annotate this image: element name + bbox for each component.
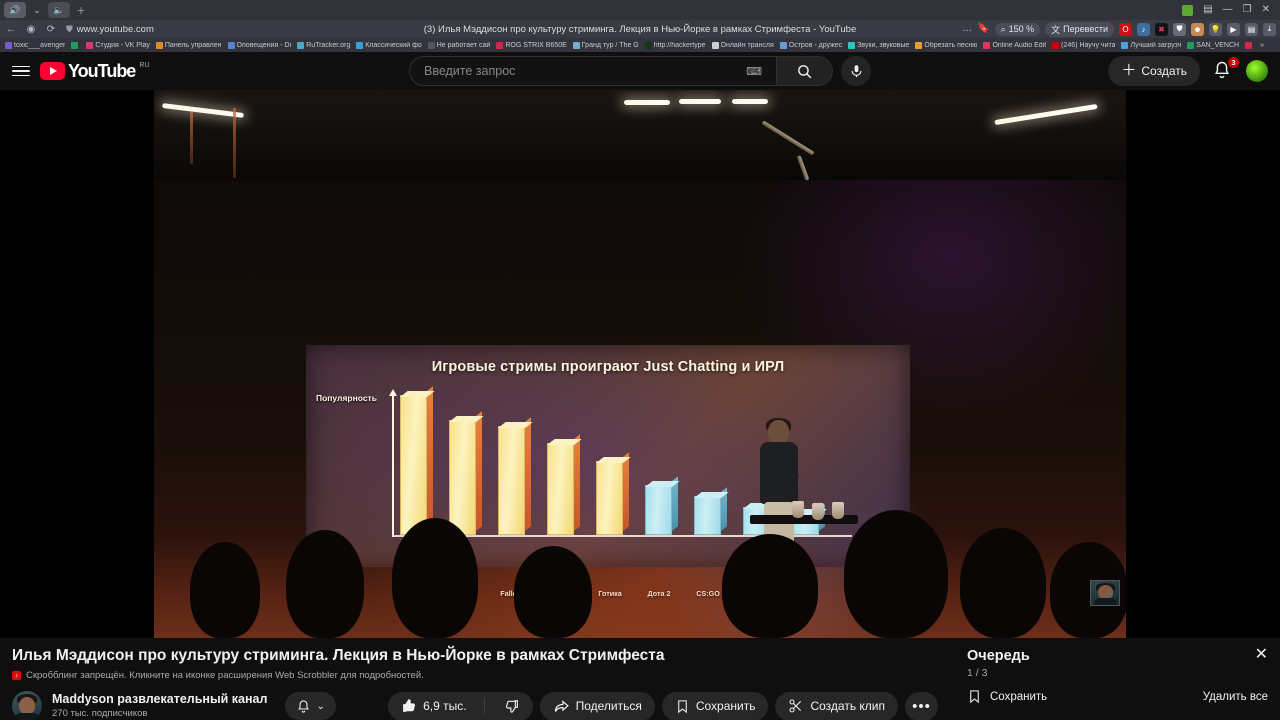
tab-list-dropdown-button[interactable]: ⌄ — [28, 2, 46, 18]
window-controls: ▤ — ❐ ✕ — [1182, 5, 1276, 16]
translate-button[interactable]: 文 Перевести — [1045, 22, 1114, 37]
bookmark-item[interactable]: Остров - дружес — [778, 42, 844, 49]
browser-tab-2[interactable]: 🔈 — [48, 2, 70, 18]
save-button[interactable]: Сохранить — [662, 692, 769, 720]
restore-icon[interactable]: ❐ — [1243, 5, 1252, 15]
bookmark-label: Online Audio Edit — [992, 42, 1046, 49]
bookmarks-overflow-button[interactable]: » — [1258, 42, 1266, 49]
audience-head — [286, 530, 364, 638]
create-button[interactable]: ＋ Создать — [1108, 56, 1200, 86]
bookmark-item[interactable]: http://hackertype — [643, 42, 708, 49]
ceiling-light-mid1 — [624, 100, 670, 105]
audience-head — [190, 542, 260, 638]
clip-label: Создать клип — [810, 699, 885, 713]
channel-avatar[interactable] — [12, 691, 42, 720]
bookmark-label: RuTracker.org — [306, 42, 350, 49]
bookmark-favicon-icon — [71, 42, 78, 49]
lightbulb-icon[interactable]: 💡 — [1209, 23, 1222, 36]
zoom-indicator[interactable]: ⌕ 150 % — [995, 23, 1041, 36]
scissors-icon — [788, 698, 804, 714]
translate-icon: 文 — [1051, 23, 1060, 36]
bookmark-item[interactable]: Онлайн трансля — [710, 42, 776, 49]
avatar-body — [14, 713, 40, 720]
video-player[interactable]: Игровые стримы проиграют Just Chatting и… — [0, 90, 1280, 638]
bookmark-favicon-icon — [156, 42, 163, 49]
bookmark-item[interactable]: (246) Научу чита — [1050, 42, 1117, 49]
slide-title: Игровые стримы проиграют Just Chatting и… — [306, 359, 910, 375]
extension-badge-icon[interactable] — [1182, 5, 1193, 16]
sidebar-toggle-icon[interactable]: ▤ — [1203, 5, 1212, 15]
bookmark-favicon-icon — [712, 42, 719, 49]
minimize-icon[interactable]: — — [1223, 5, 1233, 15]
create-clip-button[interactable]: Создать клип — [775, 692, 898, 720]
bookmark-favicon-icon — [228, 42, 235, 49]
search-placeholder: Введите запрос — [424, 64, 515, 78]
bookmark-favicon-icon — [573, 42, 580, 49]
bookmark-favicon-icon — [5, 42, 12, 49]
profile-extension-icon[interactable]: ☻ — [1191, 23, 1204, 36]
bookmark-item[interactable] — [1243, 42, 1256, 49]
audience-head — [514, 546, 592, 638]
bookmark-favicon-icon — [1121, 42, 1128, 49]
keyboard-icon[interactable]: ⌨ — [746, 65, 762, 78]
audience — [154, 478, 1126, 638]
bookmark-label: Лучший загрузч — [1130, 42, 1181, 49]
audience-head — [722, 534, 818, 638]
avatar[interactable] — [1246, 60, 1268, 82]
video-title: Илья Мэддисон про культуру стриминга. Ле… — [12, 646, 938, 666]
zoom-icon: ⌕ — [1001, 24, 1006, 35]
audience-head — [960, 528, 1046, 638]
profile-icon[interactable]: ◉ — [24, 22, 38, 36]
bell-icon — [296, 699, 311, 714]
queue-clear-button[interactable]: Удалить все — [1203, 691, 1268, 703]
share-icon — [553, 698, 570, 715]
microphone-icon — [849, 64, 864, 79]
scrobbler-notice: ♪ Скробблинг запрещён. Кликните на иконк… — [12, 670, 938, 681]
bookmark-item[interactable]: ROG STRIX B650E — [494, 42, 568, 49]
browser-tab-strip: 🔊 ⌄ 🔈 ＋ ▤ — ❐ ✕ — [0, 0, 1280, 20]
ceiling-light-mid3 — [732, 99, 768, 104]
plus-icon: ＋ — [76, 4, 85, 17]
more-icon: ••• — [912, 698, 931, 715]
address-overflow-icon[interactable]: … — [962, 24, 972, 34]
bookmark-favicon-icon — [356, 42, 363, 49]
bookmark-label: Гранд тур / The G — [582, 42, 639, 49]
support-beam-2 — [233, 108, 236, 178]
new-tab-button[interactable]: ＋ — [72, 2, 90, 18]
translate-label: Перевести — [1063, 24, 1108, 34]
wallet-icon[interactable]: ▤ — [1245, 23, 1258, 36]
bookmark-favicon-icon — [86, 42, 93, 49]
queue-title: Очередь — [967, 648, 1030, 664]
audience-head — [392, 518, 478, 638]
bookmark-favicon-icon — [496, 42, 503, 49]
bookmark-item[interactable]: toxic___avenger — [3, 42, 67, 49]
bookmark-label: (246) Научу чита — [1061, 42, 1115, 49]
bookmark-favicon-icon — [780, 42, 787, 49]
search-icon — [796, 63, 813, 80]
bookmark-item[interactable]: Online Audio Edit — [981, 42, 1048, 49]
bookmark-label: Онлайн трансля — [721, 42, 774, 49]
bookmark-item[interactable]: Обрезать песню — [913, 42, 979, 49]
channel-subscribers: 270 тыс. подписчиков — [52, 707, 267, 720]
channel-name[interactable]: Maddyson развлекательный канал — [52, 693, 267, 706]
address-bar[interactable]: ⛊ www.youtube.com — [66, 24, 154, 35]
bookmark-label: Оповещения - Di — [237, 42, 292, 49]
bookmark-item[interactable]: Студия - VK Play — [84, 42, 152, 49]
thumbnail-body — [1094, 598, 1117, 606]
bookmark-item[interactable]: SAN_VENCH — [1185, 42, 1241, 49]
bookmark-item[interactable]: Оповещения - Di — [226, 42, 294, 49]
scrobbler-icon[interactable]: ♪ — [1137, 23, 1150, 36]
bookmark-favicon-icon — [428, 42, 435, 49]
channel-row: Maddyson развлекательный канал 270 тыс. … — [12, 691, 938, 720]
thumbnail-face — [1098, 585, 1113, 599]
speaker-icon: 🔊 — [9, 5, 20, 16]
divider — [484, 698, 485, 715]
download-icon[interactable]: ⤓ — [1263, 23, 1276, 36]
scrobbler-icon: ♪ — [12, 671, 21, 680]
youtube-logo[interactable]: YouTube RU — [40, 62, 149, 80]
thumbs-down-icon — [504, 698, 520, 714]
bookmark-label: Классический фо — [365, 42, 422, 49]
chevron-down-icon: ⌄ — [316, 701, 324, 712]
queue-panel: Очередь 1 / 3 ✕ Сохранить Удалить все — [952, 638, 1280, 720]
plus-icon: ＋ — [1121, 65, 1136, 77]
bookmark-label: SAN_VENCH — [1196, 42, 1239, 49]
bookmark-item[interactable]: RuTracker.org — [295, 42, 352, 49]
queue-save-label: Сохранить — [990, 691, 1047, 703]
like-button[interactable]: 6,9 тыс. — [388, 692, 477, 720]
bookmark-favicon-icon — [1187, 42, 1194, 49]
bookmark-label: Звуки, звуковые — [857, 42, 909, 49]
notifications-button[interactable]: 3 — [1212, 60, 1234, 82]
browser-tab-active[interactable]: 🔊 — [4, 2, 26, 18]
queue-count: 1 / 3 — [967, 667, 1030, 679]
bookmark-icon — [967, 689, 982, 704]
bookmark-favicon-icon — [1052, 42, 1059, 49]
youtube-logo-text: YouTube — [68, 62, 135, 80]
chevron-down-icon: ⌄ — [33, 5, 41, 16]
video-preview-thumbnail[interactable] — [1090, 580, 1120, 606]
bookmark-item[interactable]: Гранд тур / The G — [571, 42, 641, 49]
video-actions: 6,9 тыс. Поделиться — [388, 692, 938, 720]
avatar-face — [19, 697, 35, 714]
bookmark-label: http://hackertype — [654, 42, 706, 49]
bookmark-label: Остров - дружес — [789, 42, 842, 49]
presenter-head — [768, 420, 789, 444]
bookmark-label: Студия - VK Play — [95, 42, 150, 49]
search-input[interactable]: Введите запрос ⌨ — [410, 64, 776, 78]
bookmark-item[interactable]: Панель управлен — [154, 42, 224, 49]
youtube-masthead: YouTube RU Введите запрос ⌨ ＋ — [0, 52, 1280, 90]
y-axis-label: Популярность — [316, 393, 377, 403]
dislike-button[interactable] — [491, 692, 533, 720]
youtube-country-code: RU — [139, 62, 149, 70]
audience-head — [844, 510, 948, 638]
address-bar-url: www.youtube.com — [77, 24, 154, 35]
scrobbler-notice-text: Скробблинг запрещён. Кликните на иконке … — [26, 670, 424, 681]
bookmark-item[interactable]: Классический фо — [354, 42, 424, 49]
create-label: Создать — [1141, 64, 1187, 78]
bookmark-favicon-icon — [915, 42, 922, 49]
bookmark-icon[interactable]: 🔖 — [977, 24, 989, 34]
bookmark-favicon-icon — [983, 42, 990, 49]
queue-save-button[interactable]: Сохранить — [967, 689, 1047, 704]
bookmark-icon — [675, 699, 690, 714]
notifications-badge: 3 — [1228, 57, 1239, 68]
bookmark-item[interactable]: Звуки, звуковые — [846, 42, 911, 49]
thumbs-up-icon — [401, 698, 417, 714]
like-dislike-group[interactable]: 6,9 тыс. — [388, 692, 532, 720]
subscribed-bell-button[interactable]: ⌄ — [285, 692, 335, 720]
below-player: Илья Мэддисон про культуру стриминга. Ле… — [0, 638, 1280, 720]
bookmark-item[interactable] — [69, 42, 82, 49]
voice-search-button[interactable] — [841, 56, 871, 86]
shield-icon: ⛊ — [66, 24, 73, 35]
zoom-level-label: 150 % — [1009, 24, 1035, 34]
like-count: 6,9 тыс. — [423, 699, 466, 713]
bookmark-label: ROG STRIX B650E — [505, 42, 566, 49]
adblock-icon[interactable]: ✖ — [1155, 23, 1168, 36]
ceiling-light-mid2 — [679, 99, 721, 104]
hamburger-icon[interactable] — [12, 66, 30, 77]
bookmark-item[interactable]: Не работает сай — [426, 42, 493, 49]
back-button[interactable]: ← — [4, 22, 18, 36]
close-icon[interactable]: ✕ — [1262, 5, 1270, 15]
search-button[interactable] — [776, 57, 832, 85]
browser-toolbar: ← ◉ ⟳ ⛊ www.youtube.com (3) Илья Мэддисо… — [0, 20, 1280, 38]
share-button[interactable]: Поделиться — [540, 692, 655, 720]
video-frame: Игровые стримы проиграют Just Chatting и… — [154, 90, 1126, 638]
save-label: Сохранить — [696, 699, 756, 713]
support-beam-1 — [190, 112, 193, 164]
video-icon[interactable]: ▶ — [1227, 23, 1240, 36]
bookmark-label: Обрезать песню — [924, 42, 977, 49]
bookmark-favicon-icon — [1245, 42, 1252, 49]
shield-icon[interactable]: ⛊ — [1173, 23, 1186, 36]
bookmark-label: Не работает сай — [437, 42, 491, 49]
bookmark-label: Панель управлен — [165, 42, 222, 49]
bookmark-favicon-icon — [297, 42, 304, 49]
bookmark-favicon-icon — [645, 42, 652, 49]
speaker-icon: 🔈 — [53, 5, 64, 16]
more-actions-button[interactable]: ••• — [905, 692, 938, 720]
bookmark-label: toxic___avenger — [14, 42, 65, 49]
reload-button[interactable]: ⟳ — [44, 22, 58, 36]
youtube-play-icon — [40, 62, 65, 80]
bookmarks-bar: toxic___avengerСтудия - VK PlayПанель уп… — [0, 38, 1280, 52]
search-bar[interactable]: Введите запрос ⌨ — [409, 56, 833, 86]
bookmark-favicon-icon — [848, 42, 855, 49]
opera-icon[interactable]: O — [1119, 23, 1132, 36]
close-icon[interactable]: ✕ — [1255, 648, 1268, 662]
share-label: Поделиться — [576, 699, 642, 713]
bookmark-item[interactable]: Лучший загрузч — [1119, 42, 1183, 49]
